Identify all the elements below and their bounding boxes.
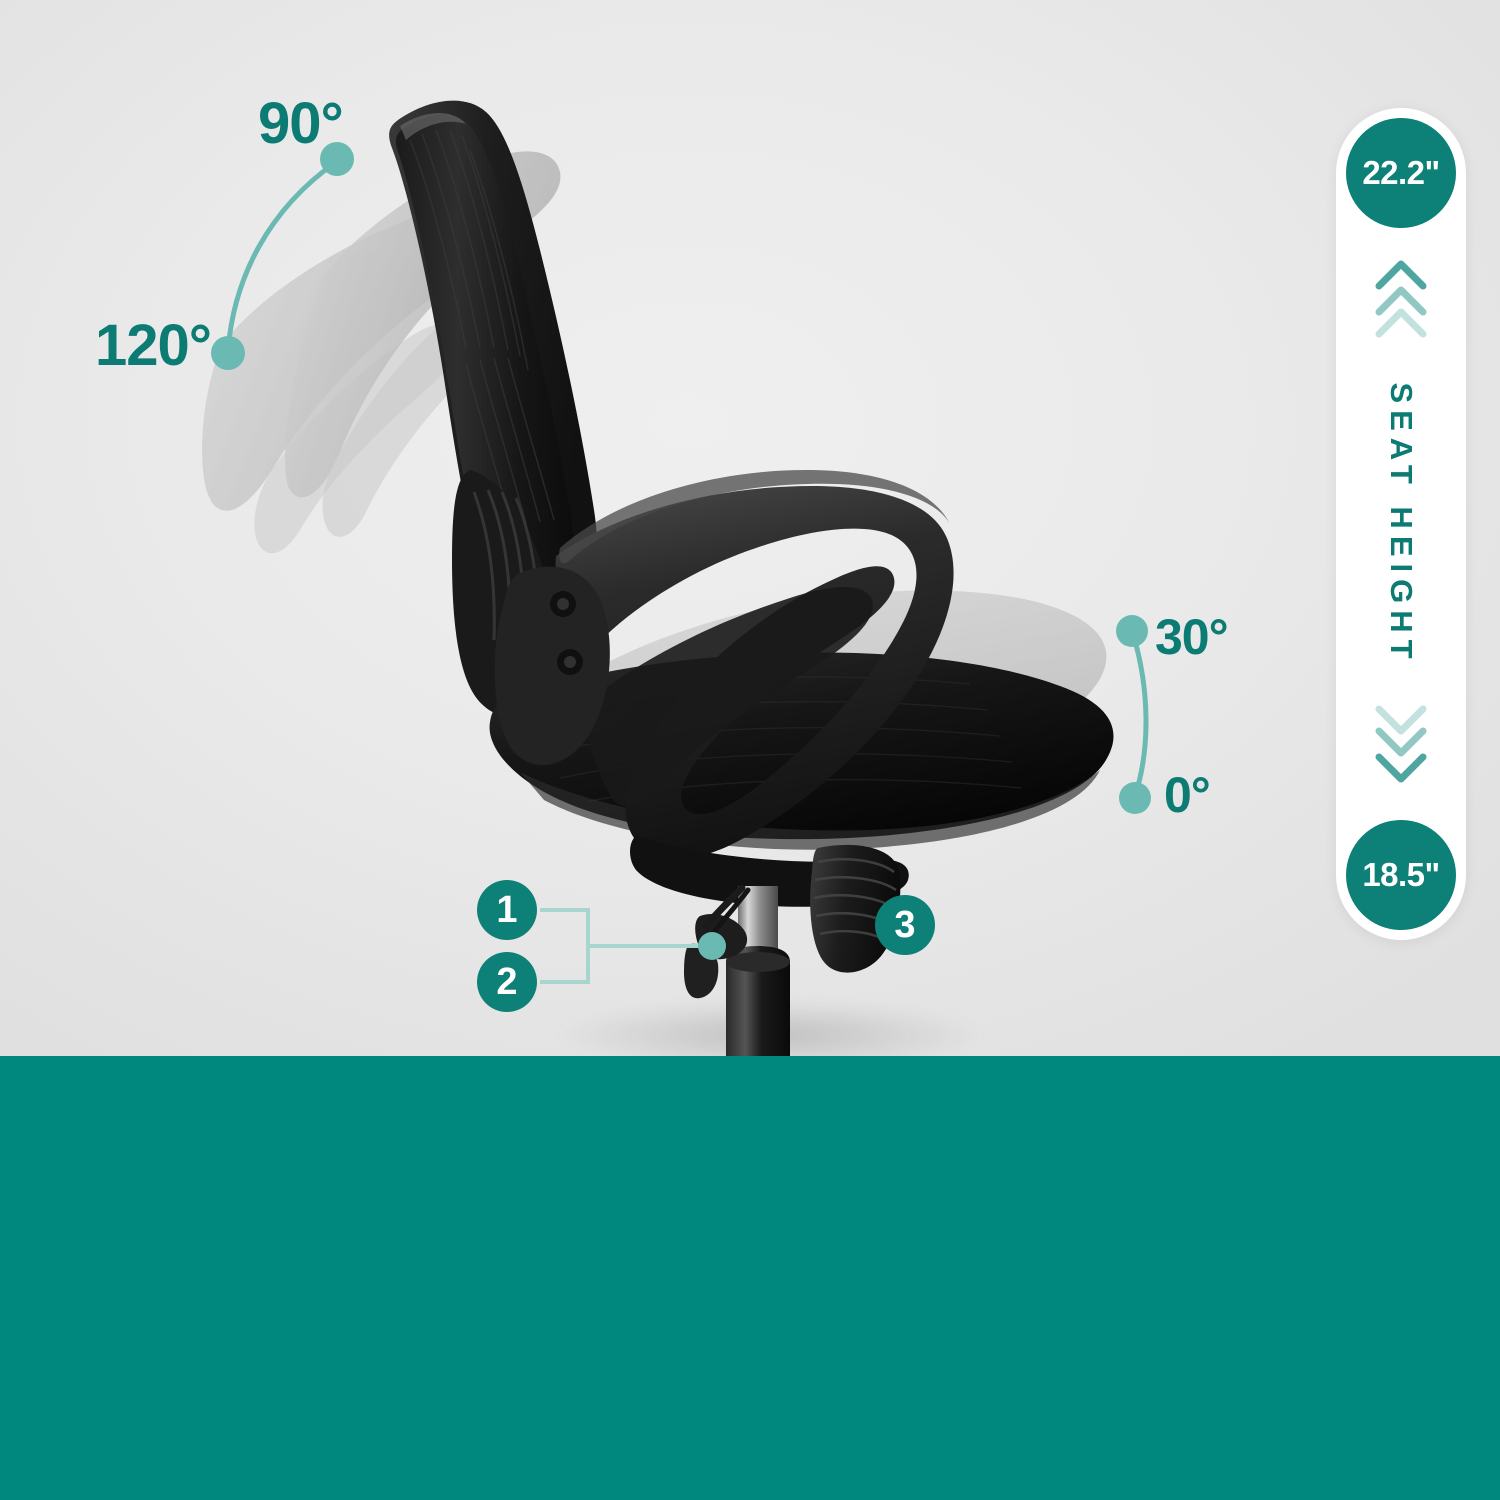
tilt-angle-0-label: 0° [1164,766,1210,824]
lever-hotspot-dot [698,932,726,960]
tilt-angle-30-label: 30° [1155,608,1228,666]
seat-height-min-badge: 18.5" [1346,820,1456,930]
chevron-down-triple-icon [1370,704,1432,795]
callout-marker-3[interactable]: 3 [875,895,935,955]
bottom-teal-band: 3 Points of Adjustment 1 Rocking Mode 2 … [0,1056,1500,1500]
callout-marker-2[interactable]: 2 [477,952,537,1012]
recline-angle-90-label: 90° [258,90,343,157]
seat-height-card: 22.2" SEAT HEIGHT [1336,108,1466,940]
tilt-angle-connector [1116,615,1151,814]
office-chair-illustration [0,0,1500,1056]
seat-height-label: SEAT HEIGHT [1383,382,1419,665]
marker-bracket-connector [540,910,706,982]
recline-angle-120-label: 120° [95,312,211,379]
product-photo-area: 90° 120° 30° 0° 1 2 3 22.2" SEAT HEIGHT [0,0,1500,1056]
callout-marker-1[interactable]: 1 [477,880,537,940]
seat-height-max-badge: 22.2" [1346,118,1456,228]
chevron-up-triple-icon [1370,253,1432,344]
infographic-page: 90° 120° 30° 0° 1 2 3 22.2" SEAT HEIGHT [0,0,1500,1500]
